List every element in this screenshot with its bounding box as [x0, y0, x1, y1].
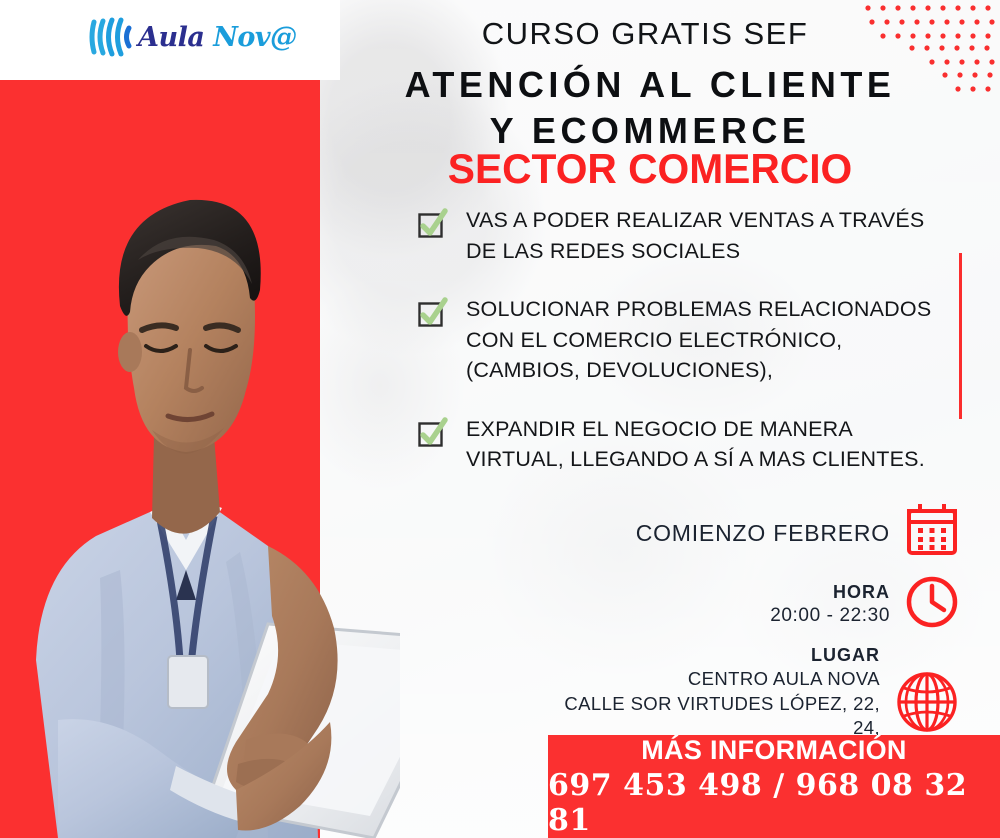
event-details: COMIENZO FEBRERO HORA — [560, 503, 960, 766]
benefits-list: VAS A PODER REALIZAR VENTAS A TRAVÉS DE … — [415, 205, 955, 503]
start-date-body: COMIENZO FEBRERO — [636, 519, 890, 549]
vertical-red-rule — [959, 253, 962, 419]
title-line-1: ATENCIÓN AL CLIENTE — [390, 62, 910, 108]
brand-name: Aula Nov@ — [138, 22, 297, 53]
list-item: SOLUCIONAR PROBLEMAS RELACIONADOS CON EL… — [415, 294, 955, 386]
promotional-flyer: Aula Nov@ CURSO GRATIS SEF ATENCIÓN AL C… — [0, 0, 1000, 838]
course-kicker: CURSO GRATIS SEF — [400, 16, 890, 52]
contact-phones[interactable]: 697 453 498 / 968 08 32 81 — [548, 768, 1000, 838]
checkbox-checked-icon — [415, 416, 449, 455]
clock-icon — [904, 574, 960, 635]
time-row: HORA 20:00 - 22:30 — [560, 574, 960, 635]
page-title: ATENCIÓN AL CLIENTE Y ECOMMERCE — [390, 62, 910, 154]
checkbox-checked-icon — [415, 207, 449, 246]
brand-name-part2: Nov@ — [213, 22, 296, 53]
time-body: HORA 20:00 - 22:30 — [770, 580, 890, 629]
start-date-row: COMIENZO FEBRERO — [560, 503, 960, 564]
list-item: VAS A PODER REALIZAR VENTAS A TRAVÉS DE … — [415, 205, 955, 266]
time-label: HORA — [770, 580, 890, 604]
sound-wave-icon — [88, 16, 132, 58]
list-item-label: VAS A PODER REALIZAR VENTAS A TRAVÉS DE … — [466, 205, 924, 266]
start-date-text: COMIENZO FEBRERO — [636, 519, 890, 549]
checkbox-checked-icon — [415, 296, 449, 335]
globe-icon — [894, 669, 960, 740]
time-value: 20:00 - 22:30 — [770, 604, 890, 629]
contact-banner[interactable]: MÁS INFORMACIÓN 697 453 498 / 968 08 32 … — [548, 735, 1000, 838]
list-item-label: SOLUCIONAR PROBLEMAS RELACIONADOS CON EL… — [466, 294, 931, 386]
list-item-label: EXPANDIR EL NEGOCIO DE MANERA VIRTUAL, L… — [466, 414, 925, 475]
place-label: LUGAR — [560, 643, 880, 667]
contact-title: MÁS INFORMACIÓN — [641, 735, 906, 766]
list-item: EXPANDIR EL NEGOCIO DE MANERA VIRTUAL, L… — [415, 414, 955, 475]
page-subtitle: SECTOR COMERCIO — [398, 145, 902, 193]
brand-logo: Aula Nov@ — [88, 16, 297, 58]
portrait-photo — [0, 100, 400, 838]
logo-bar: Aula Nov@ — [0, 0, 340, 80]
brand-name-part1: Aula — [138, 22, 213, 53]
calendar-icon — [904, 503, 960, 564]
